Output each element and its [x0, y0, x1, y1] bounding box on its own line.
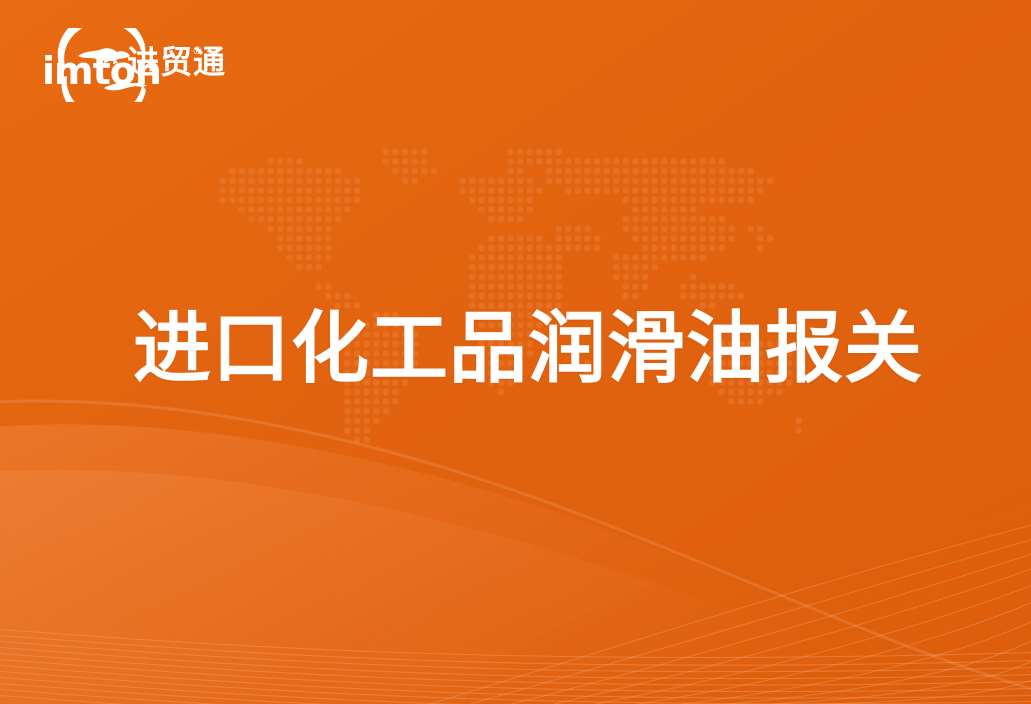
promo-banner: imton 进贸通 ® 进口化工品润滑油报关: [0, 0, 1031, 704]
logo-chinese-name: 进贸通: [127, 46, 226, 78]
registered-trademark-icon: ®: [192, 45, 203, 56]
page-title: 进口化工品润滑油报关: [133, 306, 933, 392]
